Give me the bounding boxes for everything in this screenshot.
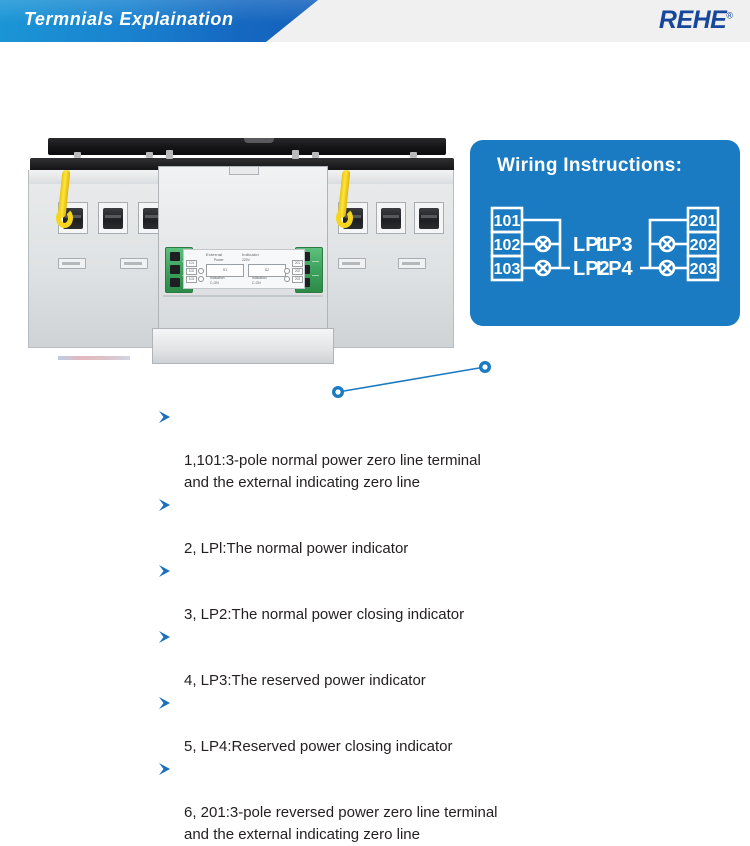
label-header-left: External [206, 252, 222, 257]
mount-screw [146, 152, 153, 158]
label-note-right: Indication [252, 276, 267, 280]
breaker-toggle [103, 208, 123, 229]
controller-schematic-label: External Indicator Power 220V S1 S2 Indi… [183, 249, 305, 289]
list-item-text: 6, 201:3-pole reversed power zero line t… [184, 804, 498, 843]
label-terminal-left: 102 [186, 268, 197, 275]
controller-module: External Indicator Power 220V S1 S2 Indi… [158, 166, 328, 354]
arrow-right-icon [158, 762, 175, 776]
vent-slot [120, 258, 148, 269]
label-lamp-symbol [284, 268, 290, 274]
terminal-divider [312, 261, 319, 262]
breaker-toggle [381, 208, 401, 229]
page-header: Termnials Explaination REHE® [0, 0, 750, 42]
label-header-right: Indicator [242, 252, 259, 257]
list-item-text: 5, LP4:Reserved power closing indicator [184, 738, 452, 755]
breaker-window [376, 202, 406, 234]
wiring-terminal-203: 203 [690, 261, 717, 278]
arrow-right-icon [158, 696, 175, 710]
label-state-left: C-ON [210, 281, 219, 285]
brand-logo: REHE® [659, 6, 733, 35]
terminal-screw [170, 265, 180, 274]
label-terminal-right: 202 [292, 268, 303, 275]
controller-front-lip [152, 328, 334, 364]
registered-trademark-icon: ® [726, 11, 733, 21]
label-lamp-symbol [198, 268, 204, 274]
arrow-right-icon [158, 630, 175, 644]
callout-leader-line [320, 355, 500, 410]
label-terminal-right: 201 [292, 260, 303, 267]
arrow-right-icon [158, 498, 175, 512]
controller-notch [229, 167, 259, 175]
arrow-right-icon [158, 410, 175, 424]
terminal-screw [170, 252, 180, 261]
brand-logo-text: REHE [659, 6, 726, 34]
wiring-lamp-lp4: LP4 [596, 258, 634, 280]
wiring-terminal-101: 101 [494, 213, 521, 230]
label-terminal-left: 101 [186, 260, 197, 267]
label-lamp-symbol [198, 276, 204, 282]
list-item: 4, LP3:The reserved power indicator [158, 626, 588, 692]
handle-hook [56, 208, 73, 228]
list-item: 1,101:3-pole normal power zero line term… [158, 406, 588, 494]
list-item: 5, LP4:Reserved power closing indicator [158, 692, 588, 758]
terminal-notes-list: 1,101:3-pole normal power zero line term… [158, 406, 588, 846]
terminal-screw [170, 278, 180, 287]
mount-screw [74, 152, 81, 158]
list-item: 2, LPl:The normal power indicator [158, 494, 588, 560]
breaker-window [98, 202, 128, 234]
wiring-terminal-201: 201 [690, 213, 717, 230]
product-image: External Indicator Power 220V S1 S2 Indi… [20, 130, 460, 365]
label-terminal-right: 203 [292, 276, 303, 283]
breaker-toggle [419, 208, 439, 229]
mount-screw [312, 152, 319, 158]
handle-hook [336, 208, 353, 228]
label-sub-left: Power [214, 258, 224, 262]
page-title: Termnials Explaination [24, 9, 234, 30]
mount-screw [292, 150, 299, 159]
wiring-instructions-panel: Wiring Instructions: [470, 140, 740, 326]
list-item: 3, LP2:The normal power closing indicato… [158, 560, 588, 626]
list-item-text: 3, LP2:The normal power closing indicato… [184, 606, 464, 623]
label-terminal-left: 103 [186, 276, 197, 283]
wiring-terminal-102: 102 [494, 237, 521, 254]
wiring-diagram: 101 102 103 201 202 203 LP1 LP2 LP3 LP4 [470, 140, 740, 326]
yellow-handle-left [56, 170, 73, 232]
vent-slot [398, 258, 426, 269]
label-lamp-symbol [284, 276, 290, 282]
breaker-window [414, 202, 444, 234]
label-note-left: Indication [210, 276, 225, 280]
arrow-right-icon [158, 564, 175, 578]
controller-seam [163, 295, 323, 297]
list-item-text: 2, LPl:The normal power indicator [184, 540, 408, 557]
terminal-divider [312, 275, 319, 276]
yellow-handle-right [336, 170, 353, 232]
mount-bar-upper [48, 138, 446, 155]
wiring-terminal-202: 202 [690, 237, 717, 254]
wiring-lamp-lp3: LP3 [596, 234, 633, 256]
vent-slot [338, 258, 366, 269]
label-sub-right: 220V [242, 258, 250, 262]
vent-slot [58, 258, 86, 269]
list-item: 6, 201:3-pole reversed power zero line t… [158, 758, 588, 846]
wiring-terminal-103: 103 [494, 261, 521, 278]
label-state-right: C-ON [252, 281, 261, 285]
list-item-text: 4, LP3:The reserved power indicator [184, 672, 426, 689]
mount-screw [166, 150, 173, 159]
mount-screw [410, 152, 417, 158]
list-item-text: 1,101:3-pole normal power zero line term… [184, 452, 481, 491]
controller-color-strip [58, 356, 130, 360]
